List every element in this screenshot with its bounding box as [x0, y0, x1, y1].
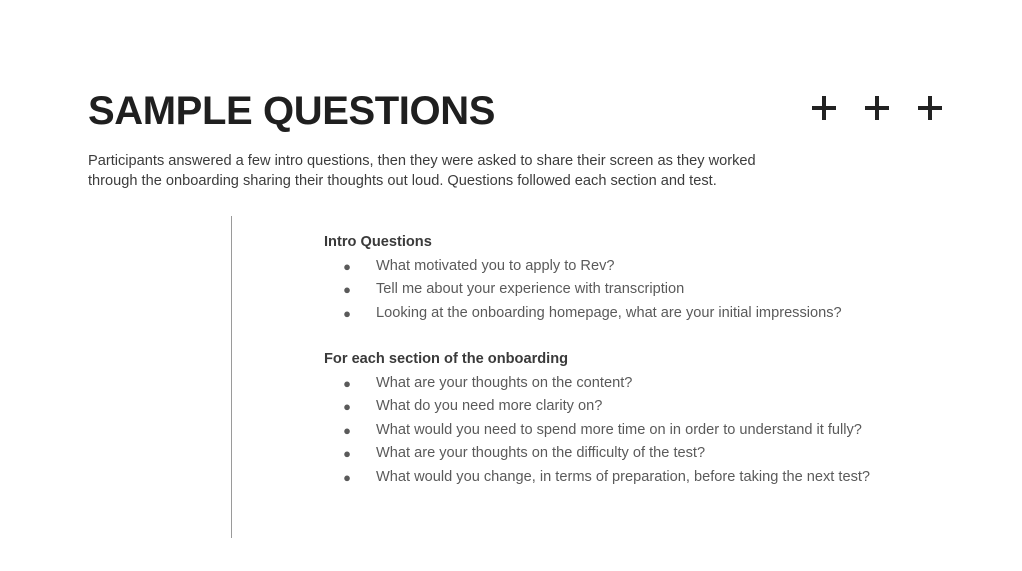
slide-canvas: SAMPLE QUESTIONS Participants answered a…: [0, 0, 1022, 571]
list-item-label: What do you need more clarity on?: [376, 398, 602, 414]
list-item: ● What are your thoughts on the content?: [324, 372, 949, 396]
page-title: SAMPLE QUESTIONS: [88, 90, 495, 132]
bullet-icon: ●: [341, 372, 353, 396]
bullet-icon: ●: [341, 255, 353, 279]
intro-paragraph: Participants answered a few intro questi…: [88, 151, 788, 192]
list-item: ● What would you change, in terms of pre…: [324, 466, 949, 490]
list-item: ● What are your thoughts on the difficul…: [324, 442, 949, 466]
bullet-icon: ●: [341, 442, 353, 466]
vertical-divider: [231, 216, 232, 538]
section-heading: For each section of the onboarding: [324, 348, 949, 372]
list-item: ● Tell me about your experience with tra…: [324, 278, 949, 302]
list-item-label: What are your thoughts on the difficulty…: [376, 445, 705, 461]
question-section: For each section of the onboarding ● Wha…: [324, 348, 949, 489]
list-item-label: Tell me about your experience with trans…: [376, 281, 684, 297]
questions-block: Intro Questions ● What motivated you to …: [324, 231, 949, 489]
plus-decoration-group: [812, 92, 942, 124]
list-item-label: What motivated you to apply to Rev?: [376, 258, 615, 274]
bullet-icon: ●: [341, 278, 353, 302]
question-list: ● What motivated you to apply to Rev? ● …: [324, 255, 949, 326]
plus-icon: [918, 96, 942, 120]
list-item: ● What motivated you to apply to Rev?: [324, 255, 949, 279]
list-item-label: What would you need to spend more time o…: [376, 422, 862, 438]
list-item-label: Looking at the onboarding homepage, what…: [376, 305, 842, 321]
bullet-icon: ●: [341, 419, 353, 443]
bullet-icon: ●: [341, 302, 353, 326]
bullet-icon: ●: [341, 395, 353, 419]
list-item-label: What would you change, in terms of prepa…: [376, 469, 870, 485]
list-item: ● Looking at the onboarding homepage, wh…: [324, 302, 949, 326]
plus-icon: [865, 96, 889, 120]
list-item: ● What would you need to spend more time…: [324, 419, 949, 443]
plus-icon: [812, 96, 836, 120]
section-heading: Intro Questions: [324, 231, 949, 255]
question-list: ● What are your thoughts on the content?…: [324, 372, 949, 490]
list-item: ● What do you need more clarity on?: [324, 395, 949, 419]
bullet-icon: ●: [341, 466, 353, 490]
list-item-label: What are your thoughts on the content?: [376, 375, 632, 391]
question-section: Intro Questions ● What motivated you to …: [324, 231, 949, 325]
